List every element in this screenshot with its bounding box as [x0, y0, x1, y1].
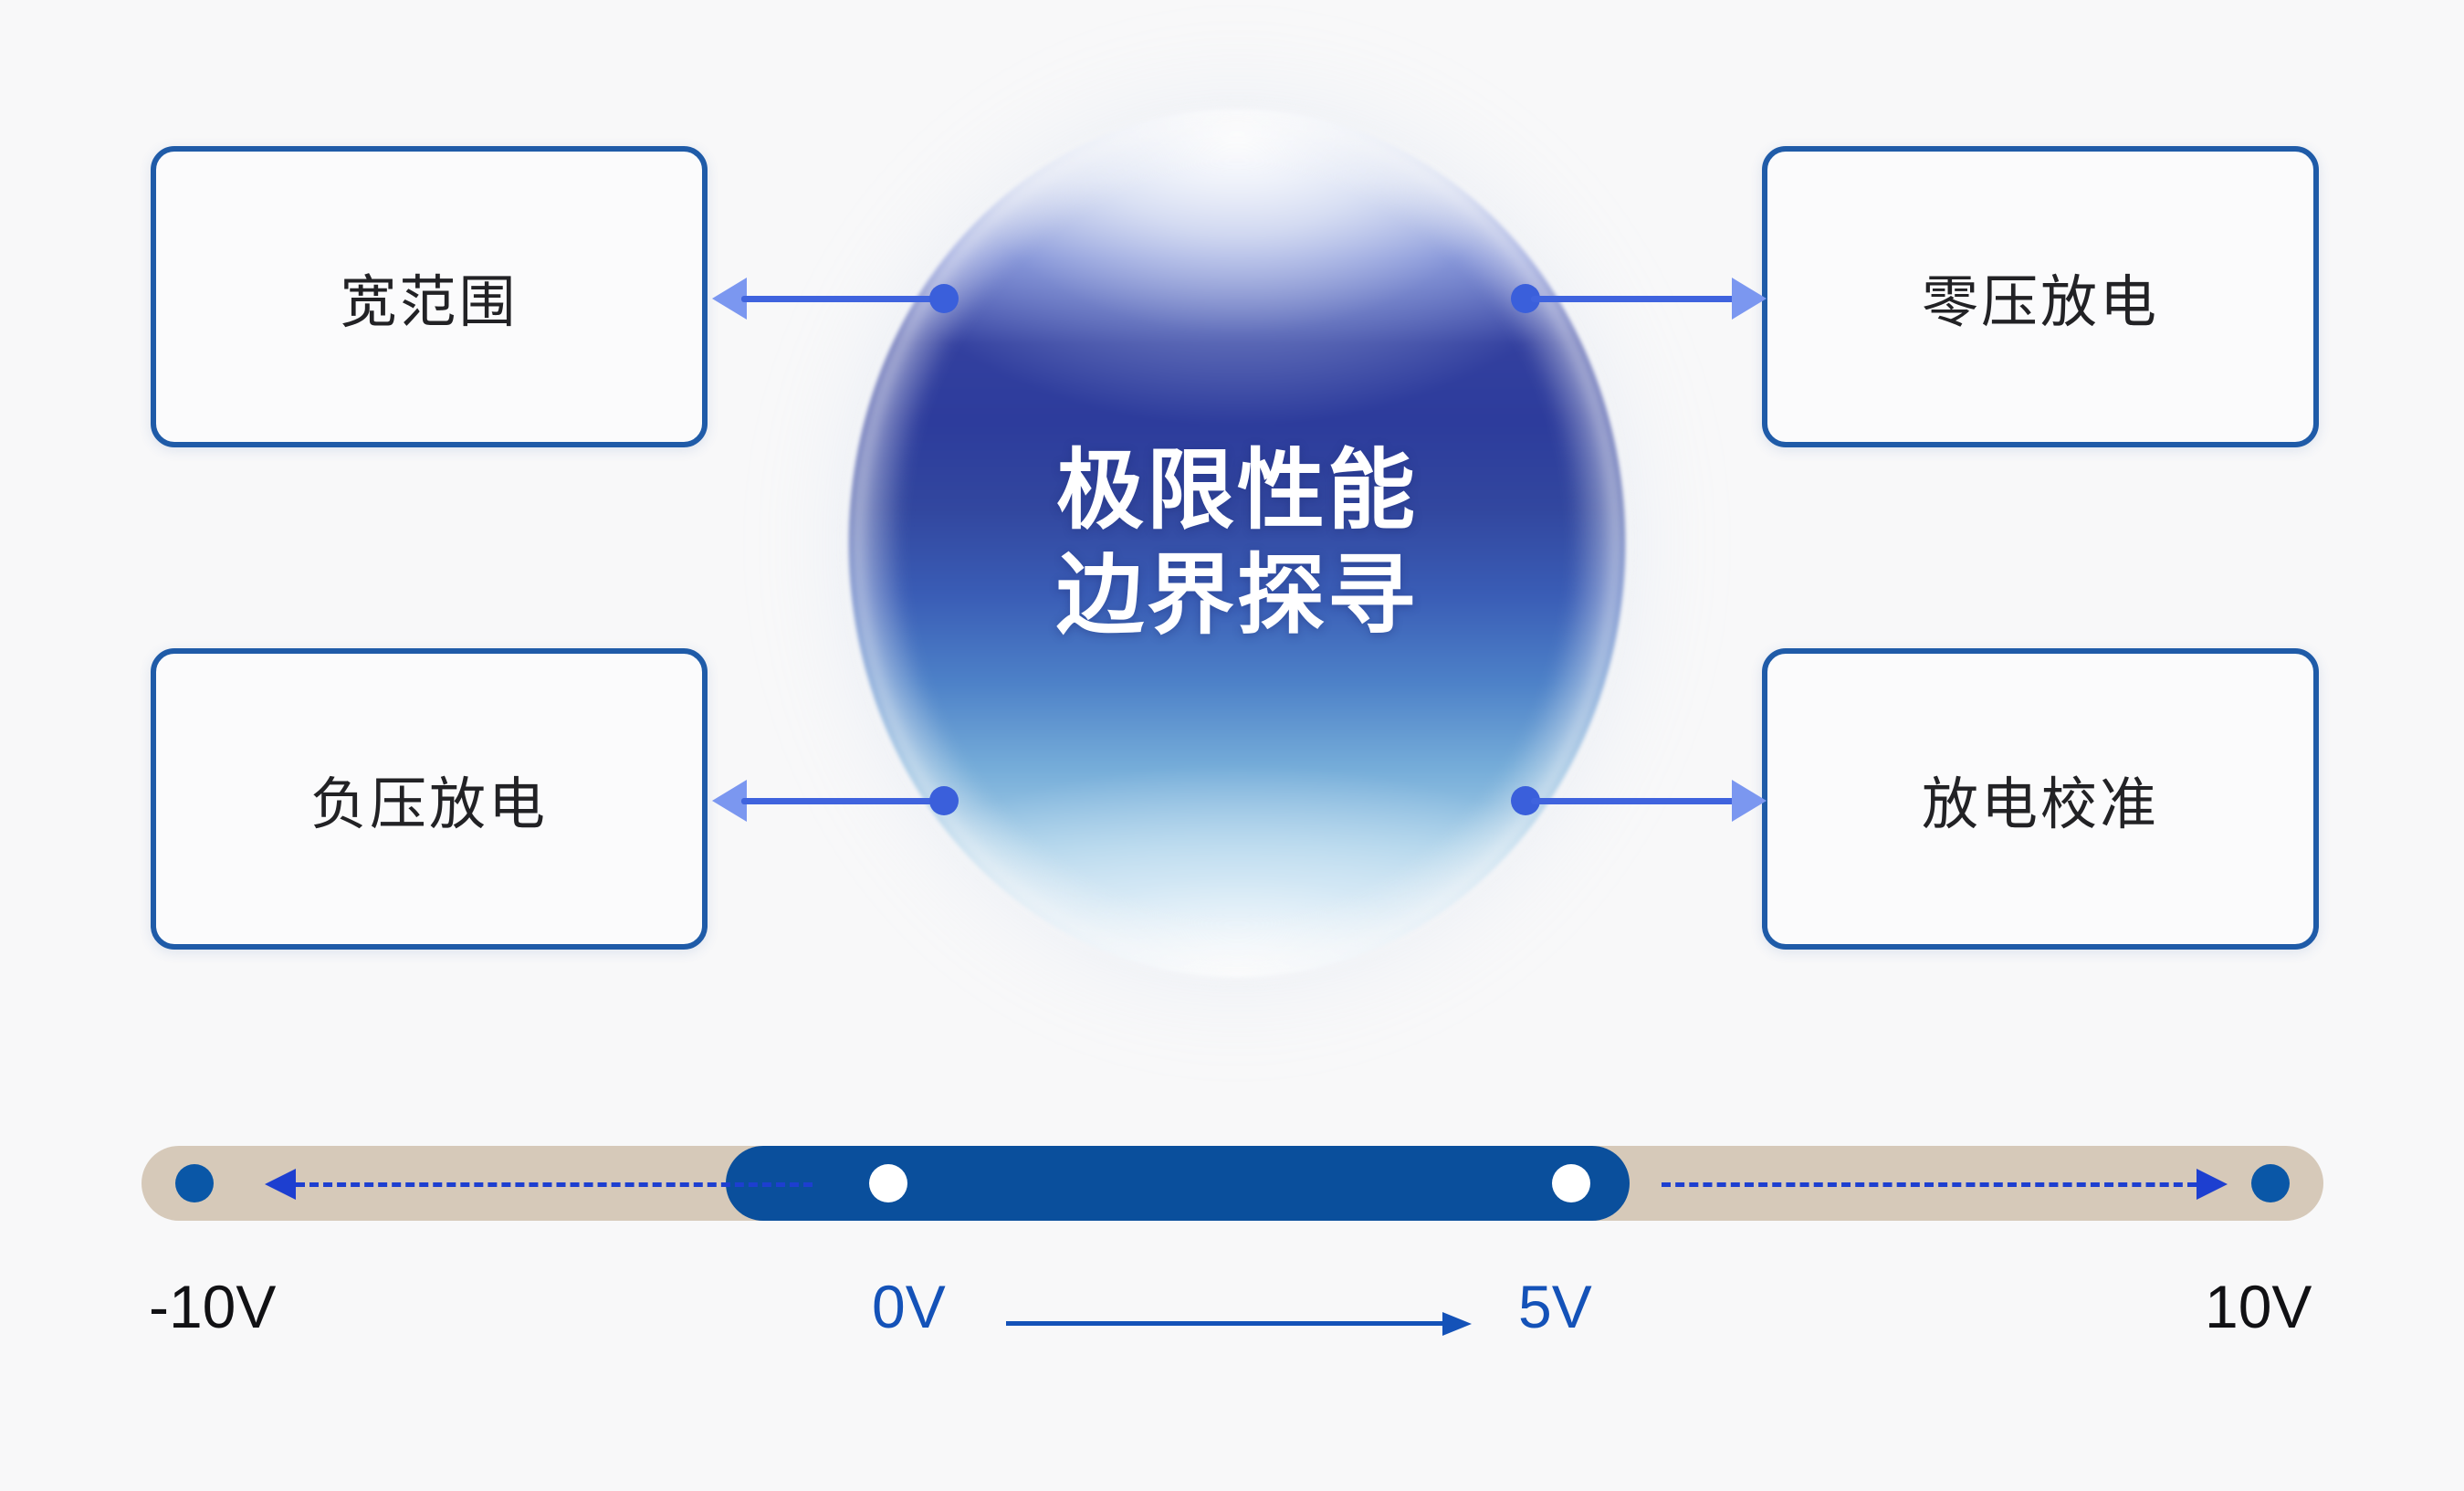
arrow-head-icon: [265, 1169, 296, 1200]
feature-box-top-left-label: 宽范围: [340, 256, 518, 338]
arrow-head-icon: [2197, 1169, 2228, 1200]
center-title-line1: 极限性能: [1056, 441, 1418, 541]
connector-bottom-right: [1511, 772, 1767, 827]
center-title: 极限性能 边界探寻: [826, 87, 1648, 1000]
center-title-line2: 边界探寻: [1056, 546, 1418, 646]
slider-end-dot-min: [175, 1164, 214, 1202]
dashed-line: [296, 1182, 813, 1187]
connector-top-right: [1511, 270, 1767, 325]
connector-line: [1531, 798, 1737, 804]
voltage-slider-selected-range[interactable]: [726, 1146, 1630, 1221]
feature-box-bottom-left[interactable]: 负压放电: [151, 648, 708, 950]
connector-line: [1531, 296, 1737, 302]
feature-box-top-left[interactable]: 宽范围: [151, 146, 708, 447]
feature-box-bottom-left-label: 负压放电: [310, 758, 548, 840]
positive-direction-arrow: [1662, 1176, 2228, 1192]
connector-dot-icon: [929, 284, 959, 313]
range-direction-arrow: [1006, 1312, 1472, 1334]
connector-bottom-left: [712, 772, 959, 827]
connector-dot-icon: [929, 786, 959, 815]
connector-line: [741, 798, 938, 804]
slider-handle-upper[interactable]: [1552, 1164, 1590, 1202]
arrow-line: [1006, 1321, 1444, 1326]
axis-label-max: 10V: [2205, 1276, 2312, 1337]
axis-label-lower: 0V: [872, 1276, 946, 1337]
diagram-canvas: 极限性能 边界探寻 宽范围 负压放电 零压放电 放电校准: [0, 0, 2464, 1491]
center-sphere: 极限性能 边界探寻: [826, 87, 1648, 1000]
axis-label-min: -10V: [149, 1276, 276, 1337]
dashed-line: [1662, 1182, 2197, 1187]
arrow-head-icon: [1442, 1312, 1472, 1336]
slider-handle-lower[interactable]: [869, 1164, 907, 1202]
axis-label-upper: 5V: [1518, 1276, 1592, 1337]
arrow-head-icon: [1732, 278, 1767, 320]
slider-end-dot-max: [2251, 1164, 2290, 1202]
feature-box-bottom-right[interactable]: 放电校准: [1762, 648, 2319, 950]
feature-box-bottom-right-label: 放电校准: [1922, 758, 2159, 840]
connector-line: [741, 296, 938, 302]
arrow-head-icon: [1732, 780, 1767, 822]
feature-box-top-right-label: 零压放电: [1922, 256, 2159, 338]
connector-top-left: [712, 270, 959, 325]
feature-box-top-right[interactable]: 零压放电: [1762, 146, 2319, 447]
negative-direction-arrow: [265, 1176, 813, 1192]
